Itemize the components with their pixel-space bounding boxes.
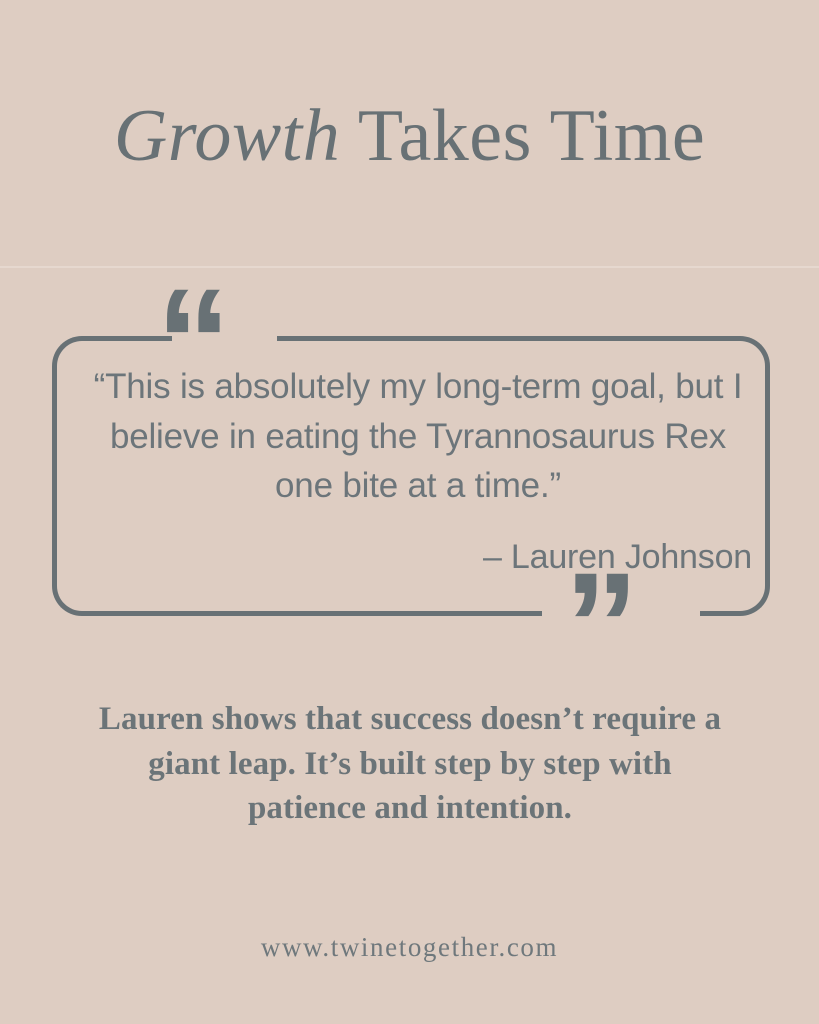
quote-card-border-left <box>52 366 57 586</box>
quote-attribution: – Lauren Johnson <box>80 537 756 578</box>
quote-card-border-bottom-right-segment <box>700 611 740 616</box>
quote-body: “This is absolutely my long-term goal, b… <box>80 362 756 578</box>
quote-poster: Growth Takes Time “ ” “This is absolutel… <box>0 0 819 1024</box>
title-band: Growth Takes Time <box>0 0 819 267</box>
page-title-rest: Takes Time <box>340 95 705 177</box>
commentary-paragraph: Lauren shows that success doesn’t requir… <box>92 697 728 831</box>
quote-card: “ ” “This is absolutely my long-term goa… <box>52 336 770 616</box>
quote-text: “This is absolutely my long-term goal, b… <box>80 362 756 511</box>
quote-card-border-bottom-left-segment <box>82 611 542 616</box>
page-title-accent: Growth <box>114 95 340 177</box>
footer-website: www.twinetogether.com <box>0 932 819 963</box>
page-title: Growth Takes Time <box>114 92 705 176</box>
quote-card-border-top-right-segment <box>277 336 740 341</box>
quote-card-border-right <box>765 366 770 586</box>
header-divider <box>0 266 819 268</box>
